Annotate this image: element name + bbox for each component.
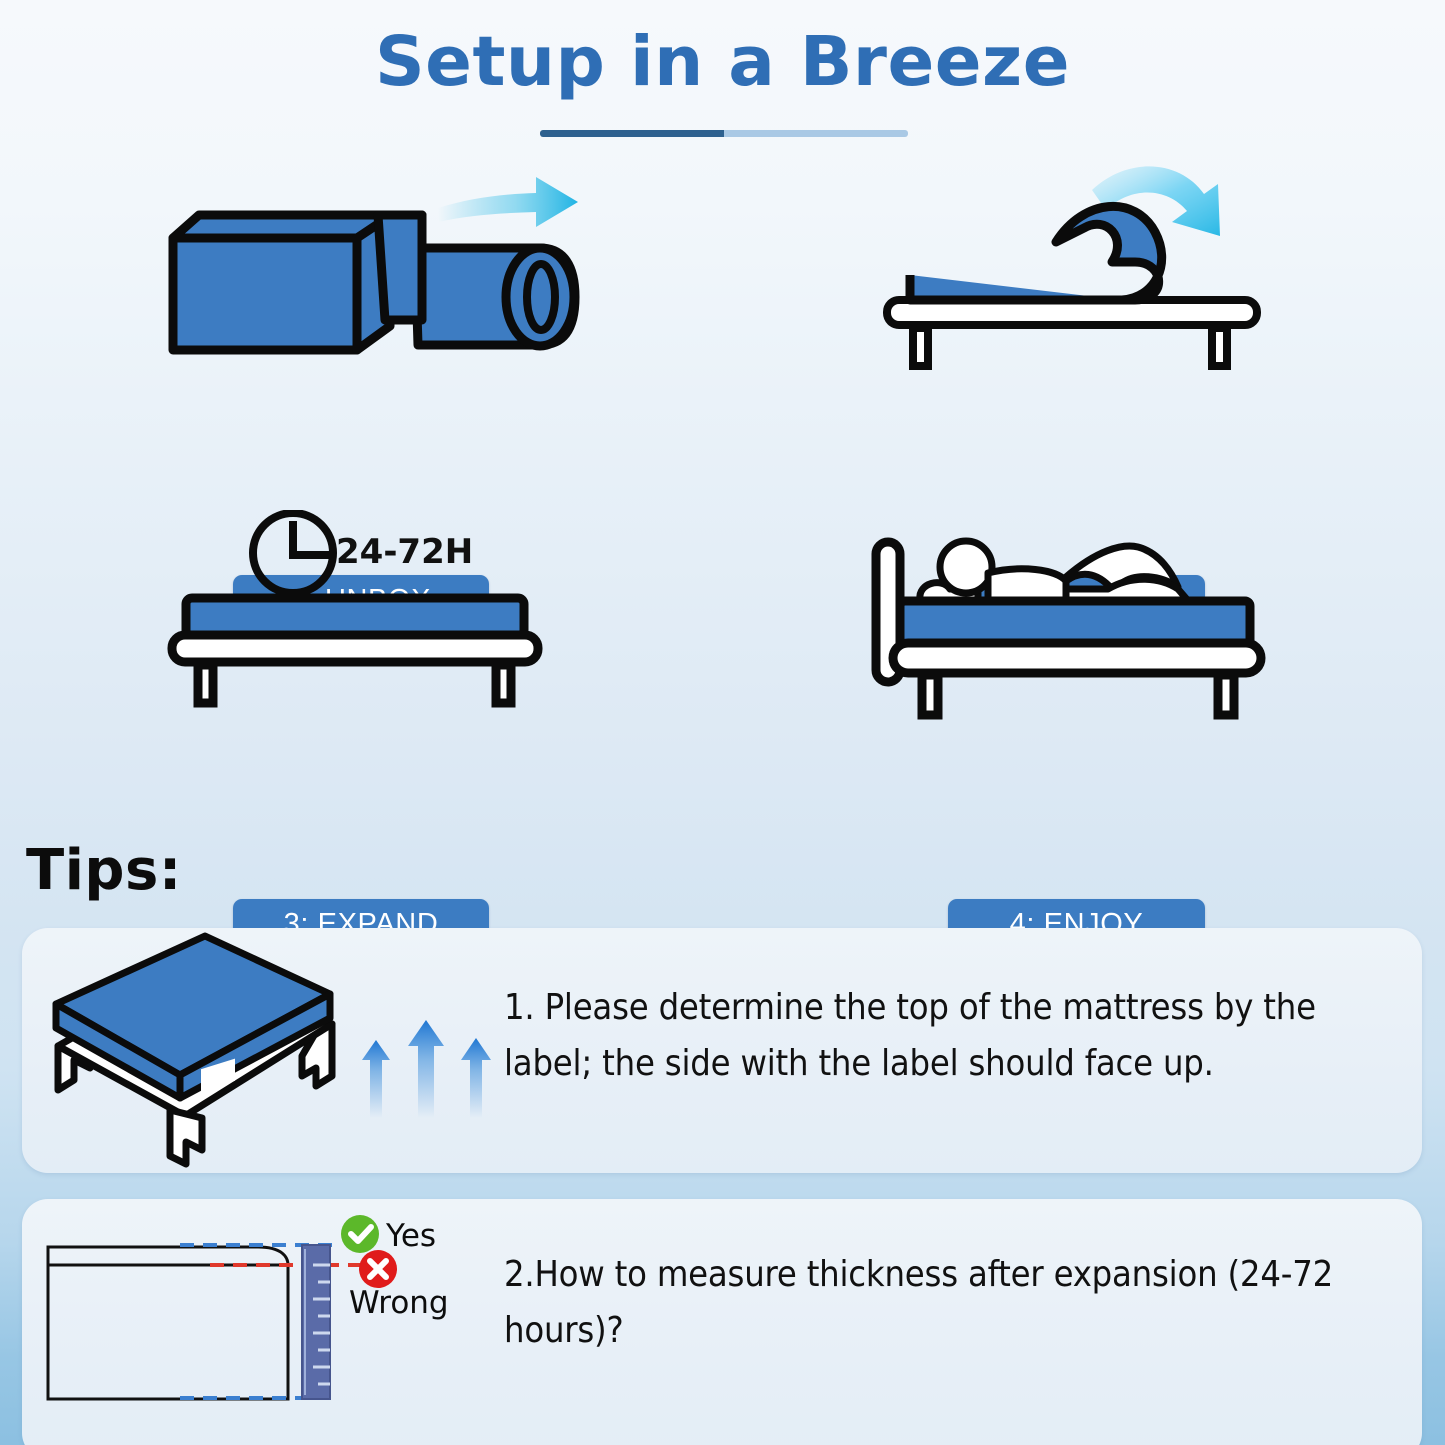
wrong-label: Wrong bbox=[349, 1285, 449, 1321]
box-shape bbox=[173, 215, 422, 350]
bed-leg-left bbox=[198, 665, 213, 703]
mattress-unrolling-on-bed-icon bbox=[860, 150, 1280, 480]
three-up-arrows-icon bbox=[362, 1020, 491, 1118]
tips-heading: Tips: bbox=[26, 838, 182, 903]
tip-card-1: 1. Please determine the top of the mattr… bbox=[22, 928, 1422, 1173]
arrow-right-icon bbox=[438, 177, 578, 227]
infographic-page: Setup in a Breeze bbox=[0, 0, 1445, 1445]
ruler-shape bbox=[302, 1245, 330, 1399]
mattress-cross-section-shape bbox=[48, 1247, 288, 1399]
person-sleeping-on-bed-icon bbox=[860, 515, 1290, 815]
rolled-mattress-shape bbox=[415, 248, 575, 346]
unrolling-mattress-shape bbox=[910, 206, 1162, 300]
mattress-shape bbox=[900, 601, 1250, 645]
steps-grid: 1: UNBOX bbox=[0, 160, 1445, 820]
mattress-shape bbox=[56, 936, 330, 1098]
bed-leg-left bbox=[922, 675, 938, 715]
box-with-rolled-mattress-icon bbox=[150, 160, 620, 460]
tip-2-text: 2.How to measure thickness after expansi… bbox=[504, 1247, 1384, 1359]
yes-label: Yes bbox=[386, 1218, 436, 1254]
yes-check-icon bbox=[341, 1215, 379, 1253]
step-4-enjoy bbox=[860, 515, 1290, 815]
isometric-mattress-with-label-icon bbox=[30, 928, 500, 1173]
divider-dark-segment bbox=[540, 130, 724, 137]
clock-icon bbox=[253, 513, 333, 593]
sleeping-person-shape bbox=[918, 541, 1190, 603]
step-2-unroll bbox=[860, 150, 1280, 480]
bed-leg-right bbox=[496, 665, 511, 703]
step-3-expand: 24-72H bbox=[150, 510, 580, 810]
mattress-shape bbox=[186, 598, 524, 636]
wrong-cross-icon bbox=[359, 1250, 397, 1288]
bed-base-shape bbox=[893, 643, 1261, 673]
divider-light-segment bbox=[724, 130, 908, 137]
bed-leg-right bbox=[1218, 675, 1234, 715]
title-divider bbox=[540, 130, 908, 137]
tip-1-text: 1. Please determine the top of the mattr… bbox=[504, 980, 1404, 1092]
title-block: Setup in a Breeze bbox=[0, 28, 1445, 97]
step-1-unbox bbox=[150, 160, 620, 460]
expand-timer-label: 24-72H bbox=[336, 532, 473, 572]
page-title: Setup in a Breeze bbox=[0, 28, 1445, 97]
bed-base-shape bbox=[172, 635, 538, 662]
bed-base-shape bbox=[887, 300, 1257, 366]
tip-card-2: Yes Wrong 2.How to measure thickness aft… bbox=[22, 1199, 1422, 1445]
